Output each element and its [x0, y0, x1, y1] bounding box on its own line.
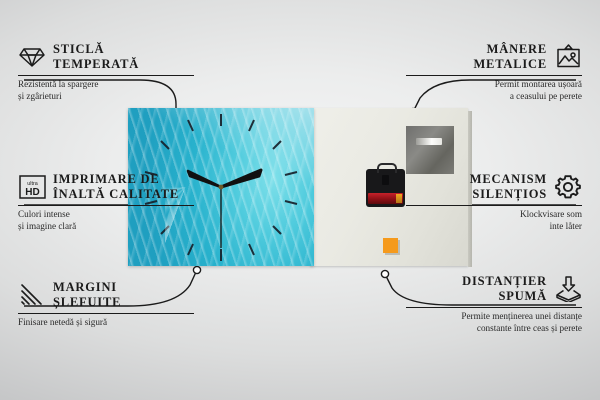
picture-hanger-icon	[554, 44, 582, 70]
feature-subtitle: Culori intense și imagine clară	[18, 209, 194, 233]
feature-subtitle: Klockvisare som inte låter	[406, 209, 582, 233]
polished-edges-icon	[18, 282, 46, 308]
feature-manere-metalice: MÂNERE METALICE Permit montarea ușoară a…	[406, 42, 582, 103]
endpoint-dot-margini	[193, 266, 200, 273]
feature-title: DISTANȚIER SPUMĂ	[406, 274, 547, 304]
feature-title: STICLĂ TEMPERATĂ	[53, 42, 194, 72]
feature-header: MECANISM SILENȚIOS	[406, 172, 582, 202]
feature-mecanism-silentios: MECANISM SILENȚIOS Klockvisare som inte …	[406, 172, 582, 233]
feature-header: ultra HD IMPRIMARE DE ÎNALTĂ CALITATE	[18, 172, 194, 202]
feature-header: STICLĂ TEMPERATĂ	[18, 42, 194, 72]
feature-header: DISTANȚIER SPUMĂ	[406, 274, 582, 304]
clock-hands	[188, 170, 261, 248]
feature-distantier-spuma: DISTANȚIER SPUMĂ Permite menținerea unei…	[406, 274, 582, 335]
feature-title: MECANISM SILENȚIOS	[406, 172, 547, 202]
metal-hanger-plate	[406, 126, 454, 174]
press-down-pad-icon	[554, 276, 582, 302]
feature-header: MÂNERE METALICE	[406, 42, 582, 72]
feature-subtitle: Permite menținerea unei distanțe constan…	[406, 311, 582, 335]
feature-subtitle: Rezistentă la spargere și zgârieturi	[18, 79, 194, 103]
mechanism-hook	[377, 163, 397, 173]
clock-mechanism	[366, 169, 405, 207]
feature-divider	[18, 313, 194, 315]
infographic-canvas: STICLĂ TEMPERATĂ Rezistentă la spargere …	[0, 0, 600, 400]
battery-tip	[396, 194, 402, 203]
feature-subtitle: Finisare netedă și sigură	[18, 317, 194, 329]
endpoint-dot-distantier	[381, 270, 388, 277]
feature-title: IMPRIMARE DE ÎNALTĂ CALITATE	[53, 172, 194, 202]
feature-divider	[406, 75, 582, 77]
feature-header: MARGINI ȘLEFUITE	[18, 280, 194, 310]
diamond-icon	[18, 44, 46, 70]
hanger-slot	[416, 138, 442, 145]
feature-subtitle: Permit montarea ușoară a ceasului pe per…	[406, 79, 582, 103]
feature-divider	[18, 75, 194, 77]
mechanism-shaft	[382, 175, 389, 185]
foam-spacer	[383, 238, 398, 253]
feature-divider	[18, 205, 194, 207]
feature-divider	[406, 307, 582, 309]
gear-icon	[554, 174, 582, 200]
battery	[368, 193, 403, 204]
feature-title: MÂNERE METALICE	[406, 42, 547, 72]
feature-imprimare-inalta-calitate: ultra HD IMPRIMARE DE ÎNALTĂ CALITATE Cu…	[18, 172, 194, 233]
feature-margini-slefuite: MARGINI ȘLEFUITE Finisare netedă și sigu…	[18, 280, 194, 329]
feature-divider	[406, 205, 582, 207]
ultra-hd-icon: ultra HD	[18, 174, 46, 200]
svg-text:HD: HD	[25, 187, 39, 198]
feature-sticla-temperata: STICLĂ TEMPERATĂ Rezistentă la spargere …	[18, 42, 194, 103]
feature-title: MARGINI ȘLEFUITE	[53, 280, 194, 310]
